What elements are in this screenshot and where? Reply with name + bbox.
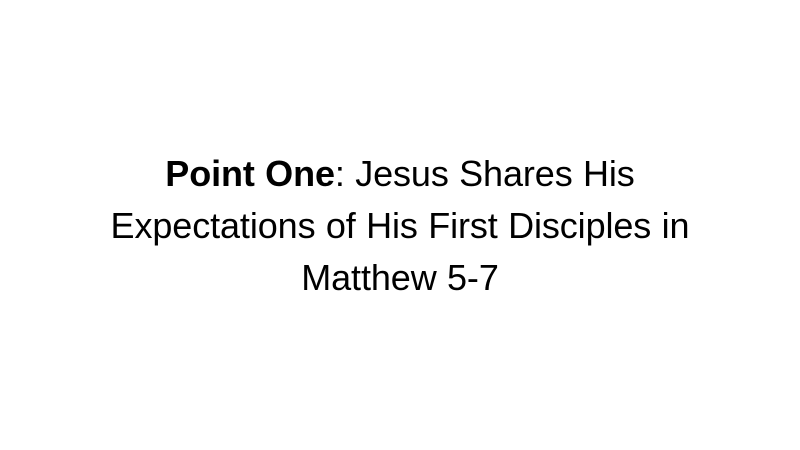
page-title-lead: Point One [165,153,335,194]
title-text-box[interactable]: Point One: Jesus Shares His Expectations… [62,148,738,304]
slide-canvas: Point One: Jesus Shares His Expectations… [0,0,800,450]
page-title: Point One: Jesus Shares His Expectations… [62,148,738,304]
